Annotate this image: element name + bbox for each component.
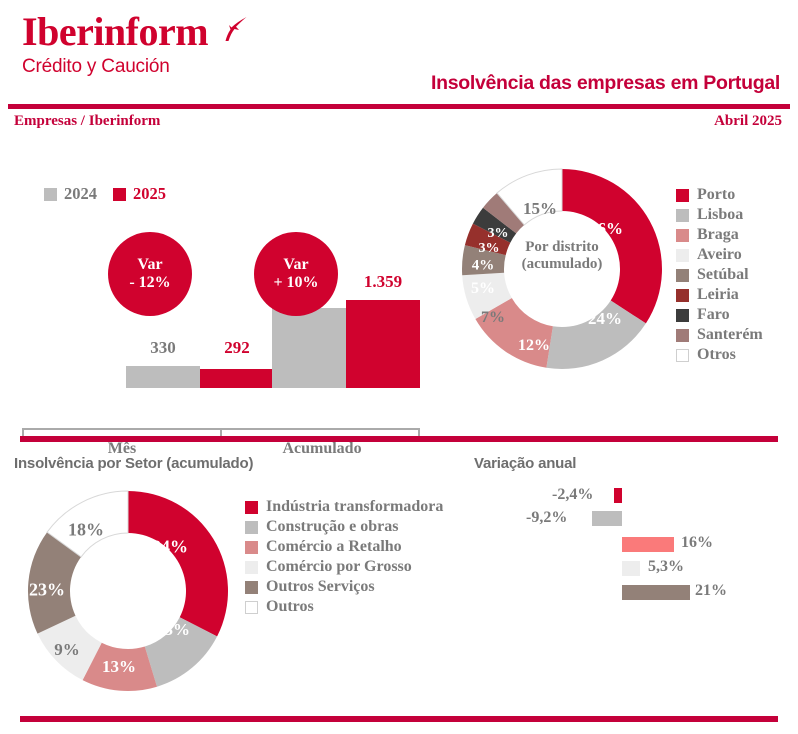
legend-label-otros-district: Otros — [697, 346, 736, 364]
legend-swatch-2024 — [44, 188, 57, 201]
legend-swatch-2025 — [113, 188, 126, 201]
bar-plot-area: 330 292 Var - 12% 1.235 1.359 Var + 10% … — [22, 218, 432, 388]
bar-mes-2025 — [200, 369, 274, 388]
legend-item-construcao: Construção e obras — [245, 518, 443, 536]
legend-label-faro: Faro — [697, 306, 730, 324]
bar-chart-legend: 2024 2025 — [44, 184, 166, 204]
sector-label-outros-servicos: 23% — [29, 580, 65, 601]
variation-label-retalho: 16% — [681, 534, 713, 552]
legend-item-setubal: Setúbal — [676, 266, 763, 284]
variation-label-industria: -2,4% — [552, 486, 593, 504]
infographic-page: Iberinform Crédito y Caución Insolvência… — [0, 0, 798, 734]
legend-swatch-outros-servicos — [245, 581, 258, 594]
sector-label-grosso: 9% — [54, 640, 80, 660]
bar-value-acumulado-2025: 1.359 — [339, 272, 427, 292]
variation-bar-retalho — [622, 537, 674, 552]
variation-label-grosso: 5,3% — [648, 558, 684, 576]
legend-item-leiria: Leiria — [676, 286, 763, 304]
bar-mes-2024 — [126, 366, 200, 388]
legend-item-aveiro: Aveiro — [676, 246, 763, 264]
legend-item-2024: 2024 — [44, 184, 97, 204]
legend-swatch-santerem — [676, 329, 689, 342]
legend-item-2025: 2025 — [113, 184, 166, 204]
period-label: Abril 2025 — [714, 113, 782, 130]
legend-label-outros-servicos: Outros Serviços — [266, 578, 375, 596]
insolvencies-bar-chart: 2024 2025 330 292 Var - 12% 1.235 1.359 — [22, 178, 432, 423]
legend-swatch-construcao — [245, 521, 258, 534]
legend-swatch-faro — [676, 309, 689, 322]
annual-variation-chart: -2,4% -9,2% 16% 5,3% 21% — [470, 480, 790, 610]
variation-bar-industria — [614, 488, 622, 503]
legend-item-lisboa: Lisboa — [676, 206, 763, 224]
section-divider-middle — [20, 436, 778, 442]
legend-label-industria: Indústria transformadora — [266, 498, 443, 516]
legend-label-leiria: Leiria — [697, 286, 739, 304]
legend-label-construcao: Construção e obras — [266, 518, 398, 536]
legend-label-outros-sector: Outros — [266, 598, 314, 616]
variation-bubble-mes-value: - 12% — [129, 274, 170, 292]
legend-label-2024: 2024 — [64, 184, 97, 204]
variation-bubble-acumulado-value: + 10% — [273, 274, 318, 292]
district-legend: Porto Lisboa Braga Aveiro Setúbal Leiria… — [676, 186, 763, 366]
axis-tick-right — [418, 428, 420, 436]
district-slice-porto — [562, 169, 662, 323]
variation-label-construcao: -9,2% — [526, 509, 567, 527]
legend-label-aveiro: Aveiro — [697, 246, 742, 264]
legend-swatch-braga — [676, 229, 689, 242]
variation-label-outros-servicos: 21% — [695, 582, 727, 600]
legend-label-setubal: Setúbal — [697, 266, 749, 284]
legend-label-santerem: Santerém — [697, 326, 763, 344]
variation-section-title: Variação anual — [474, 455, 576, 472]
district-donut-chart: Por distrito (acumulado) 26% 24% 12% 7% … — [456, 176, 668, 362]
sector-section-title: Insolvência por Setor (acumulado) — [14, 455, 253, 472]
legend-label-lisboa: Lisboa — [697, 206, 743, 224]
legend-swatch-industria — [245, 501, 258, 514]
breadcrumb: Empresas / Iberinform — [14, 113, 160, 130]
iberinform-swoosh-icon — [218, 16, 248, 42]
bar-acumulado-2025 — [346, 300, 420, 388]
bar-acumulado-2024 — [272, 308, 346, 388]
legend-item-porto: Porto — [676, 186, 763, 204]
logo-wordmark: Iberinform — [22, 12, 208, 52]
legend-swatch-otros-district — [676, 349, 689, 362]
sector-label-outros: 18% — [68, 520, 104, 541]
variation-bar-grosso — [622, 561, 640, 576]
legend-item-braga: Braga — [676, 226, 763, 244]
district-label-santerem: 3% — [488, 226, 509, 242]
legend-swatch-retalho — [245, 541, 258, 554]
legend-swatch-aveiro — [676, 249, 689, 262]
section-divider-bottom — [20, 716, 778, 722]
legend-item-outros-sector: Outros — [245, 598, 443, 616]
axis-tick-left — [22, 428, 24, 436]
brand-logo: Iberinform Crédito y Caución — [22, 12, 208, 78]
legend-label-porto: Porto — [697, 186, 735, 204]
bar-value-mes-2024: 330 — [126, 338, 200, 358]
sector-slice-industria — [128, 491, 228, 636]
district-label-lisboa: 24% — [588, 309, 622, 329]
axis-tick-middle — [220, 428, 222, 436]
district-label-porto: 26% — [589, 219, 623, 239]
legend-item-santerem: Santerém — [676, 326, 763, 344]
page-title: Insolvência das empresas em Portugal — [431, 72, 780, 95]
logo-tagline: Crédito y Caución — [22, 56, 208, 78]
sector-label-retalho: 13% — [102, 657, 136, 677]
sector-donut-chart: 24% 13% 13% 9% 23% 18% — [22, 485, 234, 697]
legend-swatch-grosso — [245, 561, 258, 574]
district-label-otros: 15% — [523, 199, 557, 219]
legend-label-braga: Braga — [697, 226, 739, 244]
district-label-aveiro: 7% — [481, 309, 505, 327]
legend-item-otros-district: Otros — [676, 346, 763, 364]
legend-item-retalho: Comércio a Retalho — [245, 538, 443, 556]
district-label-setubal: 5% — [471, 280, 495, 298]
sector-label-industria: 24% — [152, 537, 188, 558]
variation-bar-construcao — [592, 511, 622, 526]
district-label-braga: 12% — [518, 337, 550, 355]
variation-bubble-mes: Var - 12% — [108, 232, 192, 316]
variation-bar-outros-servicos — [622, 585, 690, 600]
district-label-leiria: 4% — [472, 258, 495, 275]
legend-swatch-setubal — [676, 269, 689, 282]
legend-swatch-lisboa — [676, 209, 689, 222]
variation-bubble-acumulado-label: Var — [283, 256, 308, 274]
header-divider — [8, 104, 790, 109]
sector-legend: Indústria transformadora Construção e ob… — [245, 498, 443, 618]
legend-item-outros-servicos: Outros Serviços — [245, 578, 443, 596]
district-label-faro: 3% — [479, 241, 500, 257]
legend-item-grosso: Comércio por Grosso — [245, 558, 443, 576]
variation-bubble-acumulado: Var + 10% — [254, 232, 338, 316]
bar-value-mes-2025: 292 — [200, 338, 274, 358]
legend-label-grosso: Comércio por Grosso — [266, 558, 412, 576]
legend-item-faro: Faro — [676, 306, 763, 324]
legend-swatch-leiria — [676, 289, 689, 302]
legend-label-2025: 2025 — [133, 184, 166, 204]
legend-swatch-porto — [676, 189, 689, 202]
sector-label-construcao: 13% — [156, 620, 190, 640]
axis-category-acumulado: Acumulado — [252, 440, 392, 458]
legend-item-industria: Indústria transformadora — [245, 498, 443, 516]
legend-swatch-outros-sector — [245, 601, 258, 614]
legend-label-retalho: Comércio a Retalho — [266, 538, 402, 556]
variation-bubble-mes-label: Var — [137, 256, 162, 274]
